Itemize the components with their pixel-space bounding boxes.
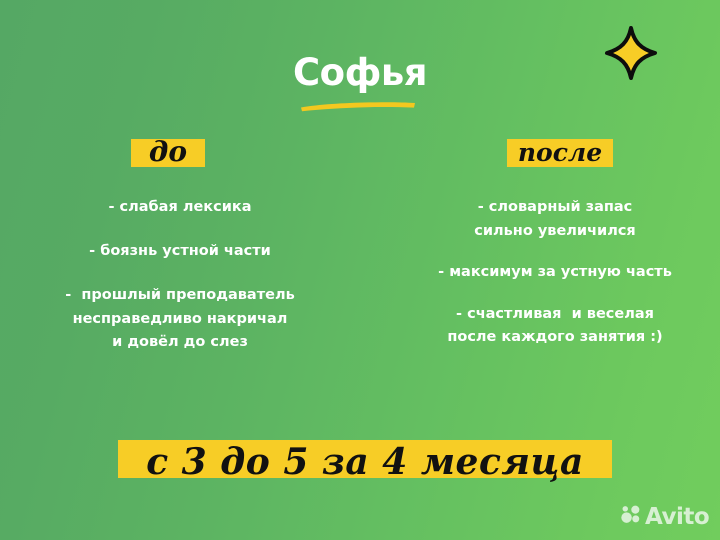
- list-item-line: после каждого занятия :): [410, 330, 700, 345]
- list-item-line: и довёл до слез: [40, 335, 320, 350]
- avito-dots-icon: [620, 504, 641, 530]
- list-item: - слабая лексика: [40, 200, 320, 215]
- list-item-line: - слабая лексика: [40, 200, 320, 215]
- label-after-text: после: [518, 140, 602, 165]
- list-item-line: - боязнь устной части: [40, 244, 320, 259]
- avito-watermark: Avito: [620, 504, 709, 530]
- list-item-line: - прошлый преподаватель: [40, 288, 320, 303]
- list-item-line: несправедливо накричал: [40, 312, 320, 327]
- list-item: - прошлый преподаватель несправедливо на…: [40, 288, 320, 350]
- label-before-badge: до: [131, 139, 205, 167]
- list-item: - словарный запас сильно увеличился: [410, 200, 700, 238]
- slide-canvas: Софья до после - слабая лексика - боязнь…: [0, 0, 720, 540]
- list-item: - максимум за устную часть: [410, 265, 700, 280]
- avito-wordmark: Avito: [645, 506, 709, 529]
- list-item: - счастливая и веселая после каждого зан…: [410, 307, 700, 345]
- column-after: - словарный запас сильно увеличился - ма…: [410, 200, 700, 365]
- column-before: - слабая лексика - боязнь устной части -…: [40, 200, 320, 370]
- list-item-line: - максимум за устную часть: [410, 265, 700, 280]
- page-title: Софья: [0, 54, 720, 93]
- list-item: - боязнь устной части: [40, 244, 320, 259]
- list-item-line: - словарный запас: [410, 200, 700, 215]
- page-title-text: Софья: [293, 54, 427, 93]
- brush-underline-icon: [299, 98, 417, 112]
- result-banner-text: с 3 до 5 за 4 месяца: [118, 436, 612, 488]
- label-before-text: до: [149, 138, 187, 166]
- list-item-line: сильно увеличился: [410, 224, 700, 239]
- list-item-line: - счастливая и веселая: [410, 307, 700, 322]
- label-after-badge: после: [507, 139, 613, 167]
